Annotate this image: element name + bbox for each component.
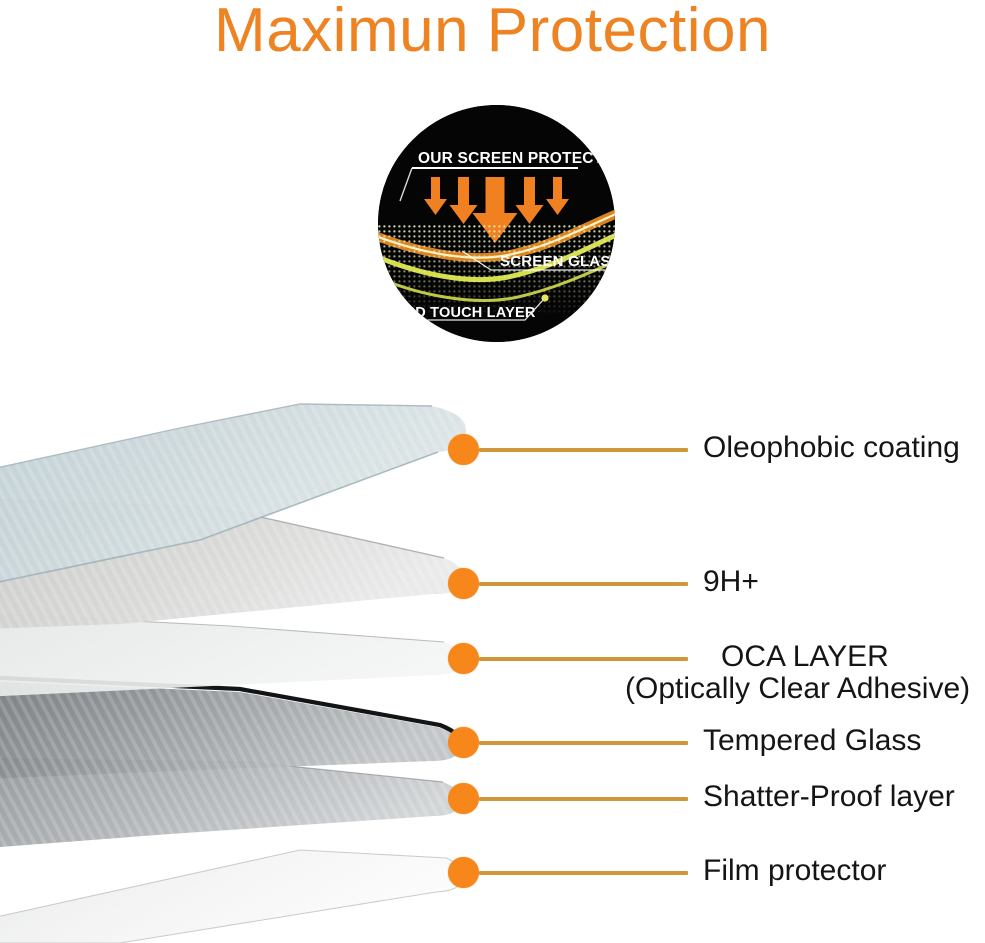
product-infographic: Maximun Protection xyxy=(0,0,985,943)
callout-dot-9h-plus[interactable] xyxy=(448,568,479,599)
callout-leader-9h-plus xyxy=(479,582,688,586)
badge-label-top: OUR SCREEN PROTECTOR xyxy=(418,150,615,167)
callout-dot-oca-layer[interactable] xyxy=(448,643,479,674)
callout-label-oleophobic-coating: Oleophobic coating xyxy=(703,432,960,463)
callout-label-9h-plus: 9H+ xyxy=(703,566,759,597)
callout-label-tempered-glass: Tempered Glass xyxy=(703,725,921,756)
callout-leader-shatter-proof-layer xyxy=(479,797,688,801)
callout-leader-film-protector xyxy=(479,871,688,875)
callout-label-film-protector: Film protector xyxy=(703,855,886,886)
callout-dot-tempered-glass[interactable] xyxy=(448,727,479,758)
callout-dot-film-protector[interactable] xyxy=(448,857,479,888)
callout-leader-oca-layer xyxy=(479,657,688,661)
layer-film-protector xyxy=(0,850,465,943)
badge-label-middle: SCREEN GLASS xyxy=(500,253,615,270)
callout-label-oca-layer: OCA LAYER (Optically Clear Adhesive) xyxy=(703,641,970,704)
callout-label-oca-layer-line2: (Optically Clear Adhesive) xyxy=(625,673,970,704)
callout-label-shatter-proof-layer: Shatter-Proof layer xyxy=(703,781,955,812)
badge-label-bottom: 3D TOUCH LAYER xyxy=(407,305,536,321)
screen-protector-cutaway-badge: OUR SCREEN PROTECTOR SCREEN GLASS 3D TOU… xyxy=(378,105,615,342)
page-title: Maximun Protection xyxy=(0,0,985,65)
callout-dot-oleophobic-coating[interactable] xyxy=(448,434,479,465)
callout-leader-tempered-glass xyxy=(479,741,688,745)
callout-leader-oleophobic-coating xyxy=(479,448,688,452)
callout-label-oca-layer-line1: OCA LAYER xyxy=(703,641,970,672)
callout-dot-shatter-proof-layer[interactable] xyxy=(448,783,479,814)
